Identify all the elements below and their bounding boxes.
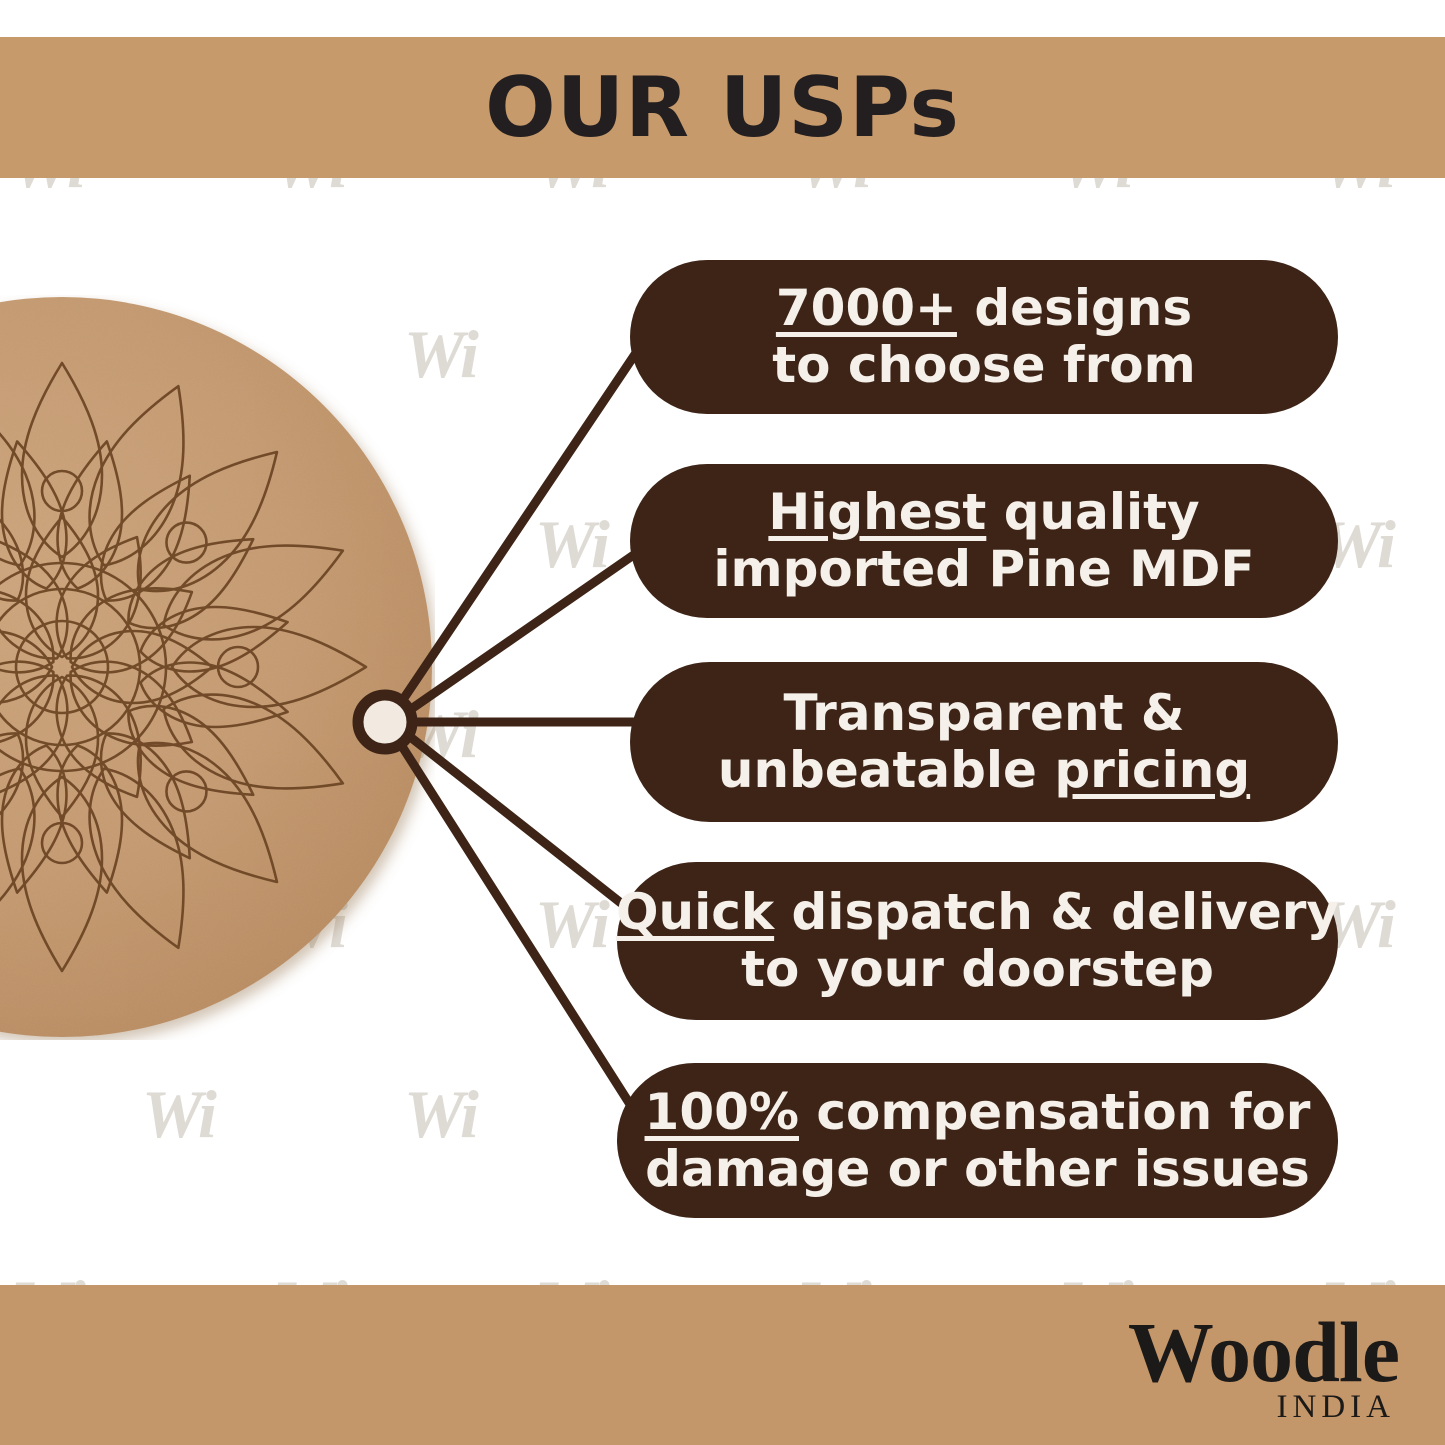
usp-card-pricing[interactable]: Transparent &unbeatable pricing	[630, 662, 1338, 822]
usp-text-line: 7000+ designs	[776, 280, 1192, 337]
watermark-wi: Wi	[142, 0, 215, 8]
usp-highlight-term: pricing	[1054, 741, 1250, 799]
usp-text-segment: imported Pine MDF	[713, 540, 1254, 598]
page-title: OUR USPs	[485, 59, 960, 156]
product-image-mandala-disc	[0, 295, 435, 1040]
usp-text-segment: damage or other issues	[645, 1140, 1310, 1198]
usp-text-segment: to choose from	[772, 336, 1196, 394]
brand-logo: Woodle INDIA	[1128, 1312, 1399, 1426]
usp-text-segment: compensation for	[799, 1083, 1310, 1141]
usp-card-compensation[interactable]: 100% compensation fordamage or other iss…	[617, 1063, 1338, 1218]
watermark-wi: Wi	[142, 1080, 215, 1148]
usp-text-line: to your doorstep	[741, 941, 1214, 998]
usp-text-line: damage or other issues	[645, 1141, 1310, 1198]
connector-line-2	[404, 545, 648, 714]
usp-text-line: to choose from	[772, 337, 1196, 394]
watermark-wi: Wi	[404, 0, 477, 8]
usp-highlight-term: 100%	[645, 1083, 799, 1141]
usp-highlight-term: 7000+	[776, 279, 957, 337]
usp-text-segment: unbeatable	[718, 741, 1055, 799]
watermark-wi: Wi	[1190, 0, 1263, 8]
usp-text-segment: quality	[986, 483, 1199, 541]
watermark-wi: Wi	[666, 0, 739, 8]
usp-text-segment: dispatch & delivery	[774, 883, 1339, 941]
usp-highlight-term: Quick	[616, 883, 774, 941]
watermark-wi: Wi	[928, 0, 1001, 8]
usp-text-segment: to your doorstep	[741, 940, 1214, 998]
usp-text-line: Transparent &	[784, 685, 1185, 742]
connector-line-1	[398, 335, 648, 707]
infographic-canvas: WiWiWiWiWiWiWiWiWiWiWiWiWiWiWiWiWiWiWiWi…	[0, 0, 1445, 1445]
usp-text-line: Quick dispatch & delivery	[616, 884, 1339, 941]
usp-card-material-quality[interactable]: Highest qualityimported Pine MDF	[630, 464, 1338, 618]
watermark-wi: Wi	[535, 890, 608, 958]
usp-text-line: unbeatable pricing	[718, 742, 1250, 799]
usp-text-segment: designs	[957, 279, 1192, 337]
usp-text-line: Highest quality	[768, 484, 1199, 541]
usp-highlight-term: Highest	[768, 483, 986, 541]
connector-line-4	[404, 732, 640, 918]
watermark-wi: Wi	[404, 1080, 477, 1148]
usp-text-segment: Transparent &	[784, 684, 1185, 742]
header-band: OUR USPs	[0, 37, 1445, 178]
usp-text-line: 100% compensation for	[645, 1084, 1311, 1141]
brand-name: Woodle	[1128, 1312, 1399, 1393]
usp-card-designs-count[interactable]: 7000+ designsto choose from	[630, 260, 1338, 414]
usp-card-dispatch-delivery[interactable]: Quick dispatch & deliveryto your doorste…	[617, 862, 1338, 1020]
usp-text-line: imported Pine MDF	[713, 541, 1254, 598]
watermark-wi: Wi	[535, 510, 608, 578]
